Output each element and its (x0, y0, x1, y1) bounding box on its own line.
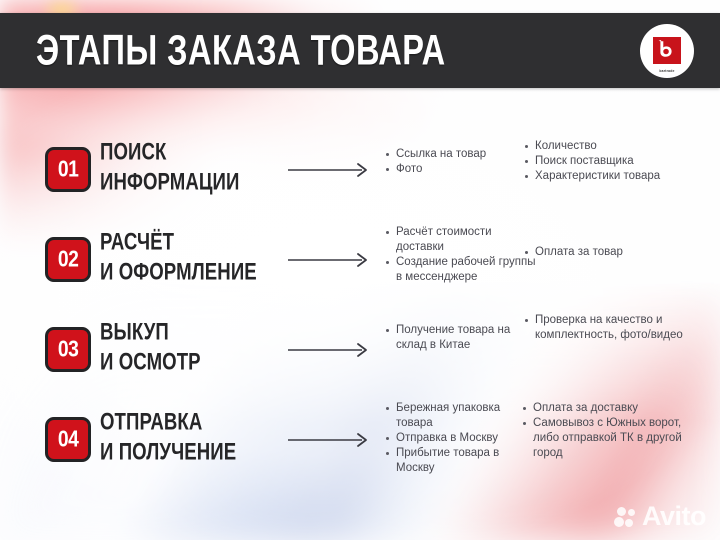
header-bar: ЭТАПЫ ЗАКАЗА ТОВАРА bartrade (0, 13, 720, 88)
bullet-item: Оплата за товар (524, 245, 714, 260)
step-number: 03 (58, 338, 79, 361)
bullet-item: Ссылка на товар (385, 147, 537, 162)
arrow-right-icon (288, 342, 370, 358)
step-title: РАСЧЁТ И ОФОРМЛЕНИЕ (100, 228, 257, 288)
bullet-list-b: Оплата за доставкуСамовывоз с Южных воро… (522, 401, 702, 461)
step-bullets-column-b: КоличествоПоиск поставщикаХарактеристики… (524, 139, 714, 184)
arrow-right-icon (288, 162, 370, 178)
step-number-badge: 03 (45, 327, 91, 372)
step-bullets-column-b: Проверка на качество и комплектность, фо… (524, 313, 714, 343)
step-bullets-column-a: Ссылка на товарФото (385, 147, 537, 177)
step-number-badge: 04 (45, 417, 91, 462)
avito-wordmark: Avito (642, 503, 706, 530)
step-title: ВЫКУП И ОСМОТР (100, 318, 201, 378)
bullet-item: Проверка на качество и комплектность, фо… (524, 313, 714, 343)
avito-dots-icon (614, 506, 638, 528)
avito-watermark: Avito (614, 503, 706, 530)
logo-subtext: bartrade (653, 69, 681, 73)
infographic-poster: ЭТАПЫ ЗАКАЗА ТОВАРА bartrade 01 ПОИСК ИН… (0, 0, 720, 540)
step-row: 01 ПОИСК ИНФОРМАЦИИ Ссылка на товарФото … (0, 125, 720, 215)
bullet-list-a: Бережная упаковка товараОтправка в Москв… (385, 401, 525, 476)
bullet-item: Оплата за доставку (522, 401, 702, 416)
step-bullets-column-a: Расчёт стоимости доставкиСоздание рабоче… (385, 225, 537, 285)
step-bullets-column-a: Бережная упаковка товараОтправка в Москв… (385, 401, 525, 476)
bullet-item: Прибытие товара в Москву (385, 446, 525, 476)
page-title: ЭТАПЫ ЗАКАЗА ТОВАРА (36, 29, 446, 72)
arrow-right-icon (288, 432, 370, 448)
step-row: 03 ВЫКУП И ОСМОТР Получение товара на ск… (0, 305, 720, 395)
step-number-badge: 01 (45, 147, 91, 192)
step-bullets-column-b: Оплата за товар (524, 245, 714, 260)
logo-square-icon: bartrade (653, 37, 681, 64)
bullet-item: Бережная упаковка товара (385, 401, 525, 431)
bullet-item: Самовывоз с Южных ворот, либо отправкой … (522, 416, 702, 461)
bullet-item: Отправка в Москву (385, 431, 525, 446)
bullet-list-a: Получение товара на склад в Китае (385, 323, 537, 353)
step-number: 01 (58, 158, 79, 181)
step-bullets-column-b: Оплата за доставкуСамовывоз с Южных воро… (522, 401, 702, 461)
step-number-badge: 02 (45, 237, 91, 282)
steps-list: 01 ПОИСК ИНФОРМАЦИИ Ссылка на товарФото … (0, 125, 720, 485)
step-row: 04 ОТПРАВКА И ПОЛУЧЕНИЕ Бережная упаковк… (0, 395, 720, 485)
step-row: 02 РАСЧЁТ И ОФОРМЛЕНИЕ Расчёт стоимости … (0, 215, 720, 305)
bullet-item: Получение товара на склад в Китае (385, 323, 537, 353)
arrow-right-icon (288, 252, 370, 268)
bullet-item: Поиск поставщика (524, 154, 714, 169)
logo-b-swoosh-icon (658, 40, 676, 58)
bullet-item: Количество (524, 139, 714, 154)
brand-logo: bartrade (640, 24, 694, 78)
bullet-item: Расчёт стоимости доставки (385, 225, 537, 255)
bullet-list-b: КоличествоПоиск поставщикаХарактеристики… (524, 139, 714, 184)
bullet-list-b: Проверка на качество и комплектность, фо… (524, 313, 714, 343)
step-bullets-column-a: Получение товара на склад в Китае (385, 323, 537, 353)
step-title: ПОИСК ИНФОРМАЦИИ (100, 138, 239, 198)
step-title: ОТПРАВКА И ПОЛУЧЕНИЕ (100, 408, 236, 468)
bullet-item: Характеристики товара (524, 169, 714, 184)
step-number: 04 (58, 428, 79, 451)
bullet-list-a: Расчёт стоимости доставкиСоздание рабоче… (385, 225, 537, 285)
bullet-item: Фото (385, 162, 537, 177)
bullet-list-b: Оплата за товар (524, 245, 714, 260)
bullet-list-a: Ссылка на товарФото (385, 147, 537, 177)
step-number: 02 (58, 248, 79, 271)
bullet-item: Создание рабочей группы в мессенджере (385, 255, 537, 285)
